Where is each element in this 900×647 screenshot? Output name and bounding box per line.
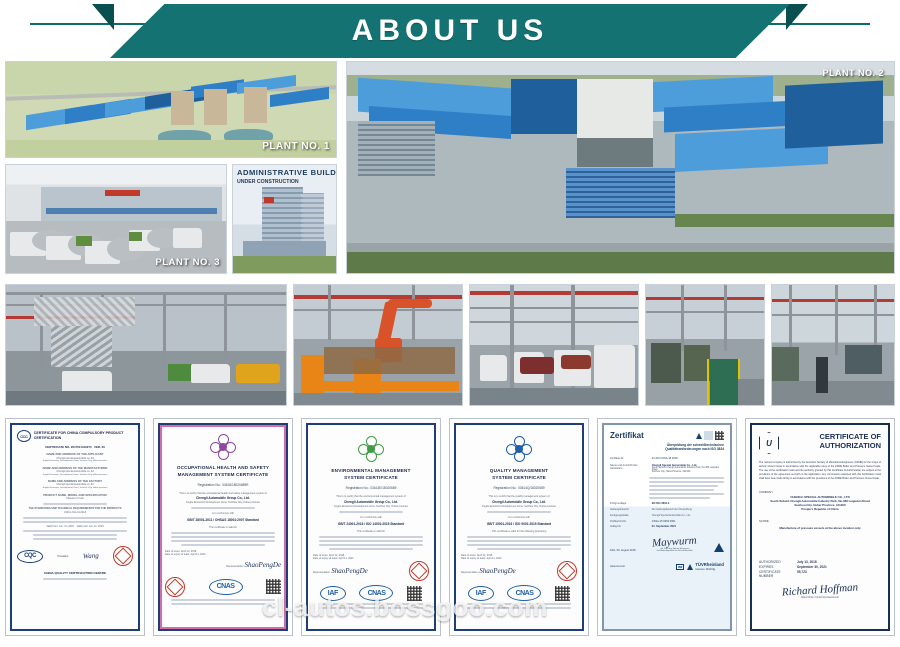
ems-qr-code-icon: [407, 586, 422, 601]
ems-expiry-label: Date of expiry at least:: [313, 557, 338, 560]
asme-scope-value: Manufacture of pressure vessels at the a…: [759, 526, 881, 530]
cqc-logo-icon: CQC: [17, 550, 43, 563]
about-us-page: ABOUT US PLANT NO.: [0, 0, 900, 647]
tuv-logo-triangle-icon: [687, 564, 693, 570]
ohsas-conformity-label: is in conformity with: [165, 512, 281, 516]
photo-paint-shop-workshop[interactable]: [771, 284, 895, 406]
qms-iaf-badge-icon: IAF: [468, 586, 494, 601]
photo-machining-workshop[interactable]: [645, 284, 765, 406]
qms-validity: This certificate is valid for the follow…: [461, 530, 577, 534]
zert-value-3: Der Geltungsbereich der Überprüfung: [652, 508, 724, 511]
ccc-manufacturer-address: Jingdu Economic Development Zone, Suizho…: [17, 474, 133, 477]
ohsas-representative-label: Representative:: [226, 565, 244, 568]
ccc-product: Chassis of truck: [17, 497, 133, 501]
page-title: ABOUT US: [352, 14, 549, 48]
zert-company-addr2: Suizhou City, Hubei Province, 441300: [652, 471, 724, 473]
zert-value-0: 01 202 CSSA-15 0002: [652, 457, 724, 460]
qms-standard: GB/T 19001-2016 / ISO 9001:2015 Standard: [461, 522, 577, 527]
asme-u-mark-icon: U: [759, 432, 779, 454]
photo-caption-admin: ADMINISTRATIVE BUILDING: [237, 168, 337, 177]
ems-validity: This certificate is valid for: [313, 530, 429, 534]
ccc-applicant-address: Jingdu Economic Development Zone, Suizho…: [17, 460, 133, 463]
photo-caption-plant-2: PLANT NO. 2: [822, 68, 884, 78]
asme-company-line4: People's Republic of China: [759, 507, 881, 511]
qms-registration-label: Registration No.:: [493, 486, 517, 490]
zert-label-1: Name und Anschrift des Herstellers: [610, 464, 649, 473]
qms-red-stamp-icon: [557, 561, 577, 581]
certificates-row: CCC CERTIFICATE FOR CHINA COMPULSORY PRO…: [0, 412, 900, 644]
asme-authorized-label: AUTHORIZED: [759, 560, 793, 564]
ems-expiry-date: April 11, 2021: [338, 557, 353, 560]
ribbon-fold-right: [786, 4, 808, 30]
asme-title-line1: CERTIFICATE OF: [819, 432, 881, 441]
qms-title-line1: QUALITY MANAGEMENT: [461, 468, 577, 475]
ems-representative: ShaoPengDe: [331, 567, 368, 575]
ohsas-title-line2: MANAGEMENT SYSTEM CERTIFICATE: [165, 472, 281, 479]
page-header: ABOUT US: [0, 0, 900, 58]
asme-authorized-value: July 13, 2018: [797, 560, 817, 564]
zertifikat-title: Zertifikat: [610, 431, 644, 440]
plant-2-artwork: [347, 62, 894, 273]
ems-title-line2: SYSTEM CERTIFICATE: [313, 475, 429, 482]
factory-5-artwork: [772, 285, 894, 405]
zert-label-2: Prüfgrundlage: [610, 502, 649, 505]
iiw-badge-icon: IIW: [676, 564, 685, 570]
ems-registration-label: Registration No.:: [346, 486, 370, 490]
asme-expires-label: EXPIRES: [759, 565, 793, 569]
ccc-standard: CNCA-C11-01:2014: [17, 511, 133, 515]
iaf-badge-icon: IAF: [320, 586, 346, 601]
ohsas-issue-date: April 12, 2018: [181, 550, 196, 553]
photo-caption-plant-3: PLANT NO. 3: [155, 257, 220, 268]
photo-truck-assembly-line[interactable]: [469, 284, 639, 406]
ribbon-fold-left: [92, 4, 114, 30]
tuv-rheinland-logo: TÜVRheinland Genau. Richtig.: [687, 562, 724, 571]
ems-intro: This is to certify that the environmenta…: [313, 495, 429, 499]
asme-cert-number-value: 55,723: [797, 570, 807, 578]
ccc-cert-no: 2017011010270: [71, 445, 92, 449]
asme-company-label: COMPANY: [759, 490, 881, 494]
qms-expiry-label: Date of expiry at least:: [461, 557, 486, 560]
zert-label-3: Geltungsbereich: [610, 508, 649, 511]
photo-plant-1[interactable]: PLANT NO. 1: [5, 61, 337, 158]
qms-expiry-date: April 11, 2021: [486, 557, 501, 560]
asme-cert-number-label: CERTIFICATE NUMBER: [759, 570, 793, 578]
zert-signer-sub: Zertifizierungsstelle für Schweißtechnik: [652, 550, 697, 552]
ohsas-qr-code-icon: [266, 579, 281, 594]
ohsas-expiry-label: Date of expiry at least:: [165, 553, 190, 556]
ems-address: Jingdu Economic Development Zone, Suizho…: [313, 505, 429, 509]
zert-website: www.tuv.com: [610, 565, 625, 568]
ribbon-banner: ABOUT US: [110, 4, 790, 58]
zert-label-0: Zertifikat-Nr.: [610, 457, 649, 460]
certificate-environmental[interactable]: ENVIRONMENTAL MANAGEMENT SYSTEM CERTIFIC…: [301, 418, 441, 636]
ohsas-address: Jingdu Economic Development Zone, Suizho…: [165, 501, 281, 505]
ems-registration-no: 03614E/18020689: [370, 486, 396, 490]
ohsas-title-line1: OCCUPATIONAL HEALTH AND SAFETY: [165, 465, 281, 472]
zert-value-6: 01. September 2021: [652, 525, 724, 528]
tuv-triangle-icon: [696, 433, 702, 439]
photo-row-plants: PLANT NO. 1 PLANT NO. 3: [0, 58, 900, 280]
ohsas-logo-icon: [210, 434, 236, 460]
qms-title-line2: SYSTEM CERTIFICATE: [461, 475, 577, 482]
qms-issue-label: Date of issue:: [461, 554, 476, 557]
certificate-asme-authorization[interactable]: U CERTIFICATE OF AUTHORIZATION The named…: [745, 418, 895, 636]
ems-issue-date: April 12, 2018: [329, 554, 344, 557]
asme-title-line2: AUTHORIZATION: [819, 441, 881, 450]
zertifikat-qr-code-icon: [715, 431, 724, 440]
asme-row-authorized: AUTHORIZED July 13, 2018: [759, 560, 881, 564]
zert-value-5: CSSA-15 0002 0001: [652, 520, 724, 523]
qms-qr-code-icon: [555, 586, 570, 601]
ccc-title: CERTIFICATE FOR CHINA COMPULSORY PRODUCT…: [34, 431, 133, 440]
ccc-valid-from-label: Valid from:: [46, 525, 58, 528]
ohsas-registration-label: Registration No.:: [198, 483, 222, 487]
qms-address: Jingdu Economic Development Zone, Suizho…: [461, 505, 577, 509]
cnas-badge-icon: CNAS: [209, 579, 243, 595]
ohsas-expiry-date: April 11, 2021: [190, 553, 205, 556]
ccc-mark-icon: CCC: [17, 430, 31, 442]
ccc-president-label: President: [57, 555, 68, 558]
zert-tuv-triangle-icon: [714, 543, 724, 552]
certificate-quality[interactable]: QUALITY MANAGEMENT SYSTEM CERTIFICATE Re…: [449, 418, 589, 636]
certificate-ohsas[interactable]: OCCUPATIONAL HEALTH AND SAFETY MANAGEMEN…: [153, 418, 293, 636]
factory-3-artwork: [470, 285, 638, 405]
ccc-version: VER. 00: [94, 445, 105, 449]
tuv-tag: Genau. Richtig.: [695, 567, 724, 571]
ccc-factory-address: Jingdu Economic Development Zone, Suizho…: [17, 487, 133, 490]
zertifikat-subtitle-2: Qualitätsanforderungen nach ISO 3834: [610, 447, 724, 451]
asme-row-cert-number: CERTIFICATE NUMBER 55,723: [759, 570, 881, 578]
qms-logo-icon: [506, 436, 532, 462]
zert-place-date: Köln, 06. August 2018: [610, 549, 635, 552]
qms-representative-label: Representative:: [461, 571, 479, 574]
ccc-red-stamp-icon: [113, 546, 133, 566]
ohsas-intro: This is to certify that the occupational…: [165, 492, 281, 496]
ohsas-validity: This certificate is valid for: [165, 526, 281, 530]
ccc-valid-until: Jun. 11, 2023: [89, 525, 104, 528]
photo-welding-robot-cell[interactable]: [293, 284, 463, 406]
zert-value-2: EN ISO 3834-2: [652, 502, 724, 505]
qms-registration-no: 03614Q/18020689: [518, 486, 544, 490]
qms-cnas-badge-icon: CNAS: [507, 585, 541, 601]
ems-standard: GB/T 24001-2016 / ISO 14001:2015 Standar…: [313, 522, 429, 527]
ohsas-registration-no: 03618/18020689R: [222, 483, 248, 487]
ccc-issuer: CHINA QUALITY CERTIFICATION CENTRE: [17, 571, 133, 576]
asme-scope-label: SCOPE: [759, 519, 881, 523]
ems-representative-label: Representative:: [313, 571, 331, 574]
qms-intro: This is to certify that the quality mana…: [461, 495, 577, 499]
photo-caption-plant-1: PLANT NO. 1: [262, 141, 330, 152]
asme-row-expires: EXPIRES September 30, 2021: [759, 565, 881, 569]
factory-4-artwork: [646, 285, 764, 405]
zertifikat-seal-icon: [704, 431, 713, 440]
ems-logo-icon: [358, 436, 384, 462]
zert-value-4: Chengli Special Automobile Co., Ltd.: [652, 514, 724, 517]
zert-label-6: Gültig bis: [610, 525, 649, 528]
qms-representative: ShaoPengDe: [479, 567, 516, 575]
qms-conformity-label: is in conformity with: [461, 516, 577, 520]
photo-assembly-line-overhead-conveyor[interactable]: [5, 284, 287, 406]
factory-1-artwork: [6, 285, 286, 405]
asme-body-text: The named company is authorized by the A…: [759, 461, 881, 481]
ccc-signature: Wang: [83, 552, 99, 561]
zert-label-5: Prüfbericht-Nr.: [610, 520, 649, 523]
ems-cnas-badge-icon: CNAS: [359, 585, 393, 601]
asme-expires-value: September 30, 2021: [797, 565, 827, 569]
ccc-cert-no-label: CERTIFICATE NO.: [45, 445, 70, 449]
zert-label-4: Fertigungsstätte: [610, 514, 649, 517]
ems-conformity-label: is in conformity with: [313, 516, 429, 520]
photo-row-factory: cl-autos.bossgoo.com: [0, 280, 900, 412]
factory-2-artwork: [294, 285, 462, 405]
photo-administrative-building[interactable]: ADMINISTRATIVE BUILDING UNDER CONSTRUCTI…: [232, 164, 337, 274]
ohsas-standard: GB/T 28001-2011 / OHSAS 18001:2007 Stand…: [165, 518, 281, 523]
photo-subcaption-admin: UNDER CONSTRUCTION: [237, 179, 299, 185]
ccc-valid-until-label: Valid until:: [77, 525, 88, 528]
photo-plant-3[interactable]: PLANT NO. 3: [5, 164, 227, 274]
ohsas-red-stamp-icon: [165, 577, 185, 597]
certificate-ccc[interactable]: CCC CERTIFICATE FOR CHINA COMPULSORY PRO…: [5, 418, 145, 636]
ems-title-line1: ENVIRONMENTAL MANAGEMENT: [313, 468, 429, 475]
ccc-valid-from: Jun. 11, 2018: [59, 525, 74, 528]
certificate-tuv-zertifikat[interactable]: Zertifikat Überprüfung der schweißtechni…: [597, 418, 737, 636]
ohsas-representative: ShaoPengDe: [244, 561, 281, 569]
ohsas-issue-label: Date of issue:: [165, 550, 180, 553]
photo-plant-2[interactable]: PLANT NO. 2: [346, 61, 895, 274]
qms-issue-date: April 12, 2018: [477, 554, 492, 557]
ems-issue-label: Date of issue:: [313, 554, 328, 557]
ems-red-stamp-icon: [409, 561, 429, 581]
